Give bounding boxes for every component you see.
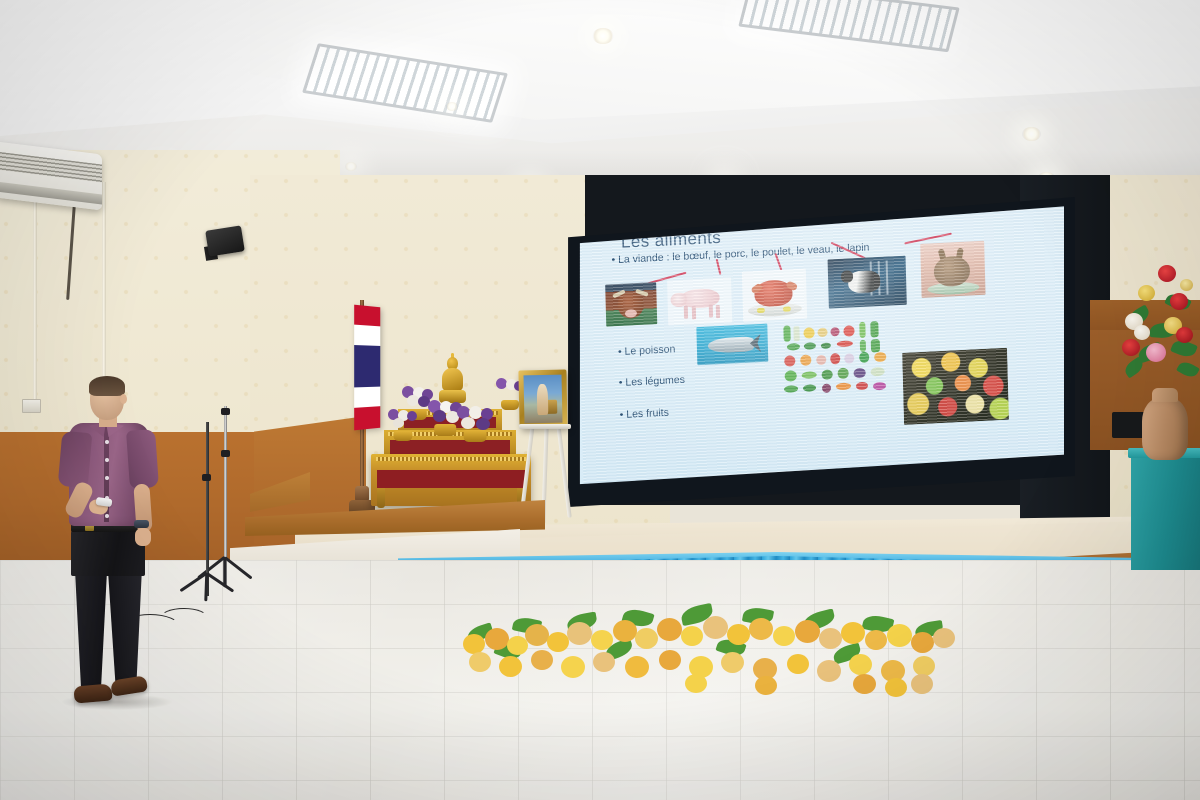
rose-yellow	[1138, 285, 1155, 301]
slide-bullet-fruits: • Les fruits	[620, 407, 669, 421]
rose-red	[1170, 293, 1188, 310]
royal-portrait-image	[524, 375, 563, 424]
altar-flower-arrangement	[387, 409, 419, 441]
stage-flower-decoration	[455, 600, 965, 710]
rose-red	[1158, 265, 1176, 282]
rabbit-photo	[920, 241, 985, 298]
presenter-wristwatch	[134, 520, 149, 528]
presenter-shoe-left	[73, 683, 112, 703]
wall-conduit-pipe	[33, 188, 37, 403]
presenter-hips	[71, 528, 145, 576]
slide-bullet-legumes: • Les légumes	[619, 374, 685, 389]
ceiling-downlight	[345, 162, 357, 171]
presenter[interactable]	[48, 378, 188, 713]
slide-bullet-poisson: • Le poisson	[618, 343, 676, 358]
pig-photo	[667, 277, 732, 325]
bullet-marker: •	[619, 377, 623, 389]
terracotta-vase	[1142, 398, 1188, 460]
rose-red	[1176, 327, 1193, 343]
wall-speaker	[205, 225, 245, 256]
calf-photo	[828, 256, 907, 309]
rose-yellow-small	[1180, 279, 1193, 291]
annotation-stroke-porc	[716, 259, 721, 275]
altar-base-red-panel	[377, 470, 525, 488]
wall-conduit-pipe	[102, 182, 106, 382]
rose-bouquet	[1120, 265, 1200, 400]
ceiling-downlight	[1022, 127, 1041, 141]
ceiling-downlight	[592, 28, 614, 44]
presenter-leg-right	[108, 571, 144, 691]
presentation-room-photo: Les aliments • La viande : le bœuf, le p…	[0, 0, 1200, 800]
thai-national-flag	[354, 305, 380, 431]
bullet-text: Le poisson	[624, 343, 675, 358]
bullet-marker: •	[620, 409, 624, 421]
wall-socket-plate	[22, 399, 41, 413]
presenter-sleeve-right	[126, 429, 159, 489]
presenter-hand-right	[135, 528, 151, 546]
bullet-marker: •	[618, 346, 622, 358]
altar-mid-tier-red-panel	[390, 440, 510, 454]
golden-buddha-statue	[439, 357, 466, 405]
presenter-ear	[120, 394, 127, 404]
altar-flower-arrangement	[456, 406, 494, 442]
rose-white	[1134, 325, 1150, 340]
royal-portrait-frame	[518, 370, 567, 429]
easel-tray	[519, 424, 571, 429]
presenter-hair	[89, 376, 125, 396]
bullet-marker: •	[611, 254, 615, 266]
bullet-text: Les légumes	[625, 374, 685, 389]
ceiling-downlight	[446, 102, 458, 111]
beef-cow-photo	[605, 282, 657, 327]
rose-pink	[1146, 343, 1166, 362]
presenter-sleeve-left	[58, 431, 93, 488]
fish-photo	[696, 324, 768, 366]
projection-screen[interactable]: Les aliments • La viande : le bœuf, le p…	[576, 205, 1064, 487]
teal-pedestal	[1131, 452, 1200, 570]
vegetables-clipart	[781, 321, 891, 400]
roast-chicken-photo	[742, 269, 807, 322]
fruits-photo	[902, 348, 1009, 425]
bullet-text: Les fruits	[626, 407, 669, 421]
rose-red	[1122, 339, 1140, 356]
slide-content: Les aliments • La viande : le bœuf, le p…	[576, 205, 1064, 487]
presenter-leg-left	[73, 571, 107, 691]
